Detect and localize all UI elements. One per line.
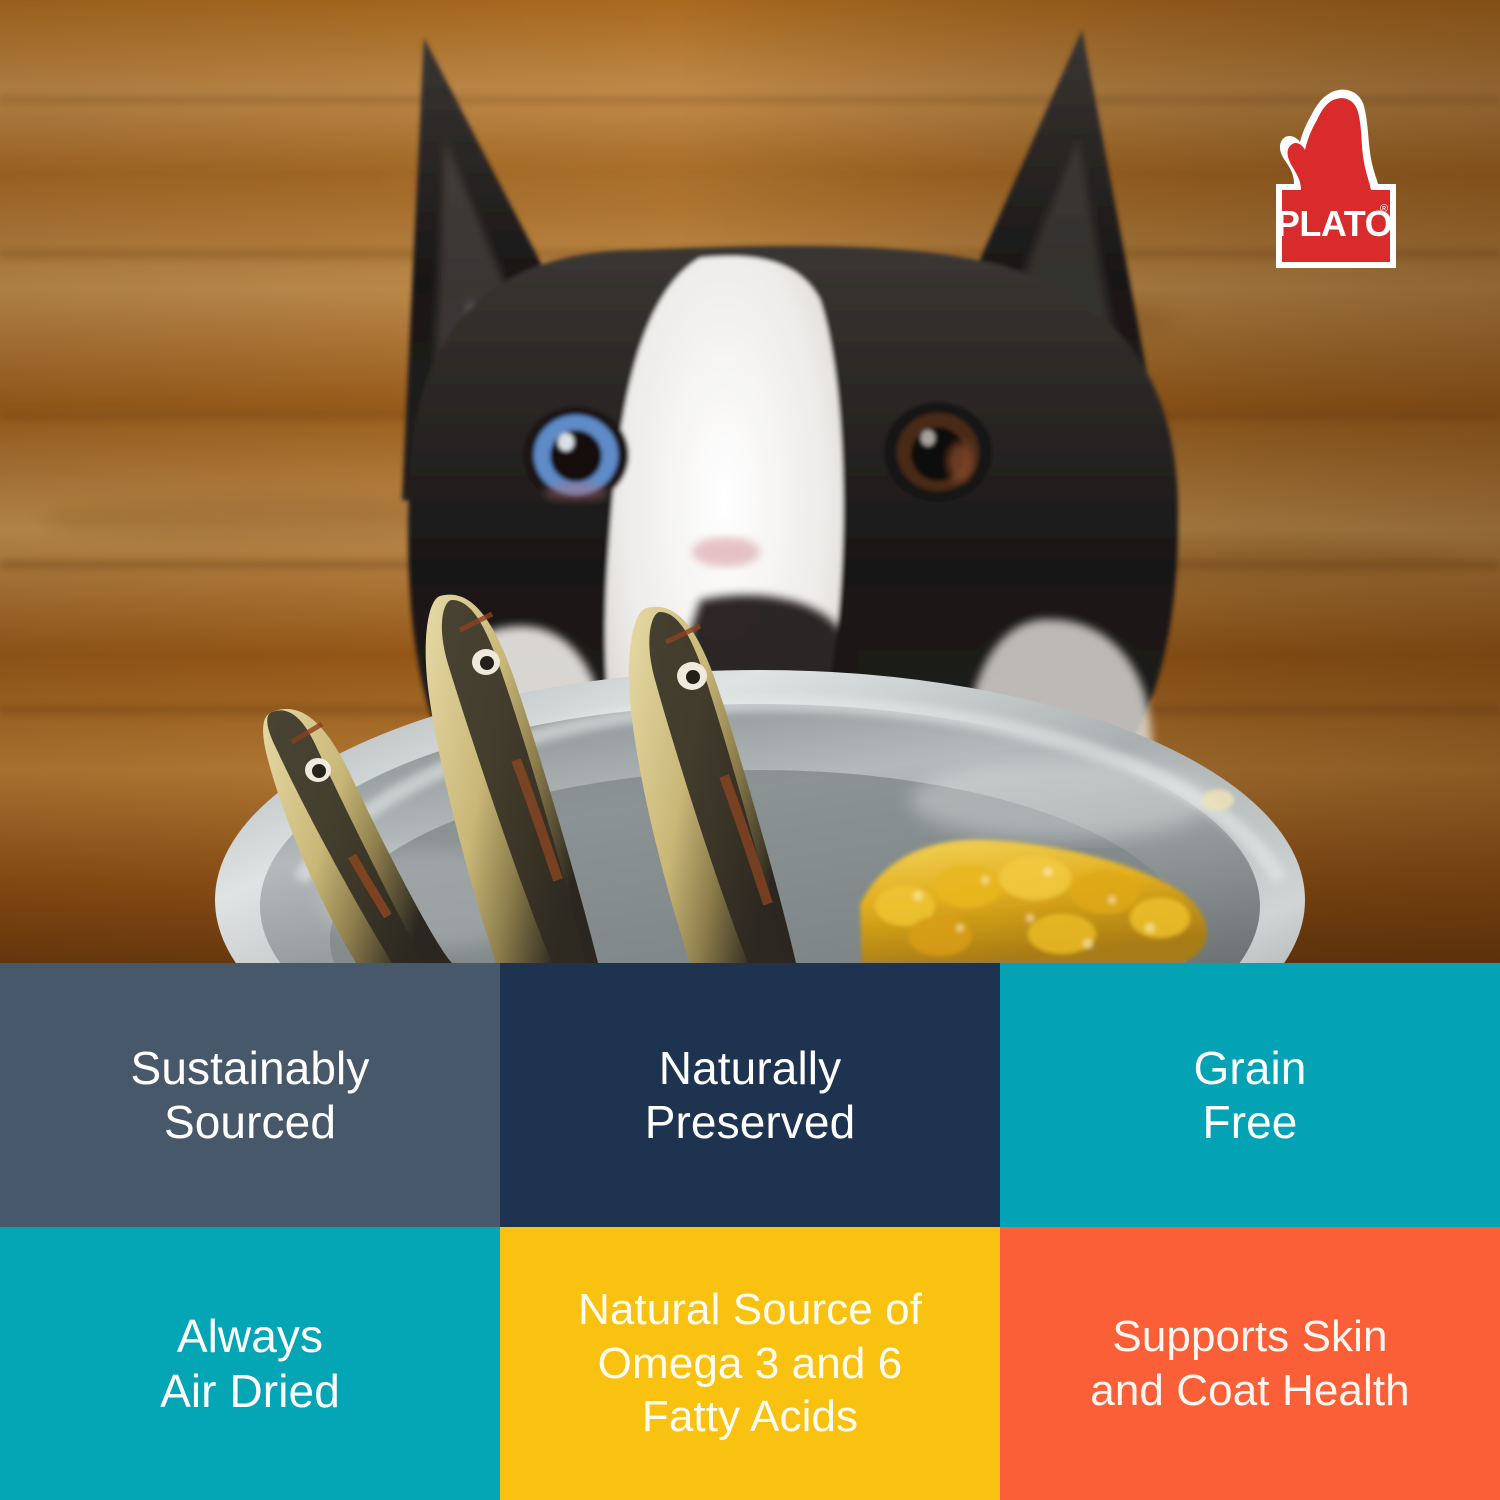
feature-tile-label: Grain Free [1194, 1041, 1307, 1150]
product-benefits-graphic: PLATO ® Sustainably Sourced Naturally Pr… [0, 0, 1500, 1500]
feature-tile-naturally-preserved[interactable]: Naturally Preserved [500, 963, 1000, 1227]
feature-tile-sustainably-sourced[interactable]: Sustainably Sourced [0, 963, 500, 1227]
plato-logo[interactable]: PLATO ® [1268, 88, 1404, 274]
feature-tile-label: Sustainably Sourced [131, 1041, 370, 1150]
feature-tile-label: Supports Skin and Coat Health [1090, 1310, 1410, 1417]
feature-tile-label: Always Air Dried [160, 1309, 340, 1418]
feature-tiles-grid: Sustainably Sourced Naturally Preserved … [0, 963, 1500, 1500]
feature-tile-supports-skin-coat[interactable]: Supports Skin and Coat Health [1000, 1227, 1500, 1500]
feature-tile-label: Naturally Preserved [645, 1041, 856, 1150]
hero-photo: PLATO ® [0, 0, 1500, 963]
logo-wordmark: PLATO [1276, 203, 1392, 244]
dog-right-eye [884, 402, 992, 502]
logo-registered-mark: ® [1380, 203, 1388, 215]
feature-tile-label: Natural Source of Omega 3 and 6 Fatty Ac… [578, 1283, 922, 1444]
feature-tile-always-air-dried[interactable]: Always Air Dried [0, 1227, 500, 1500]
feature-tile-grain-free[interactable]: Grain Free [1000, 963, 1500, 1227]
plato-logo-mark: PLATO ® [1268, 88, 1404, 274]
feature-tile-omega-fatty-acids[interactable]: Natural Source of Omega 3 and 6 Fatty Ac… [500, 1227, 1000, 1500]
dog-left-eye [523, 406, 629, 504]
